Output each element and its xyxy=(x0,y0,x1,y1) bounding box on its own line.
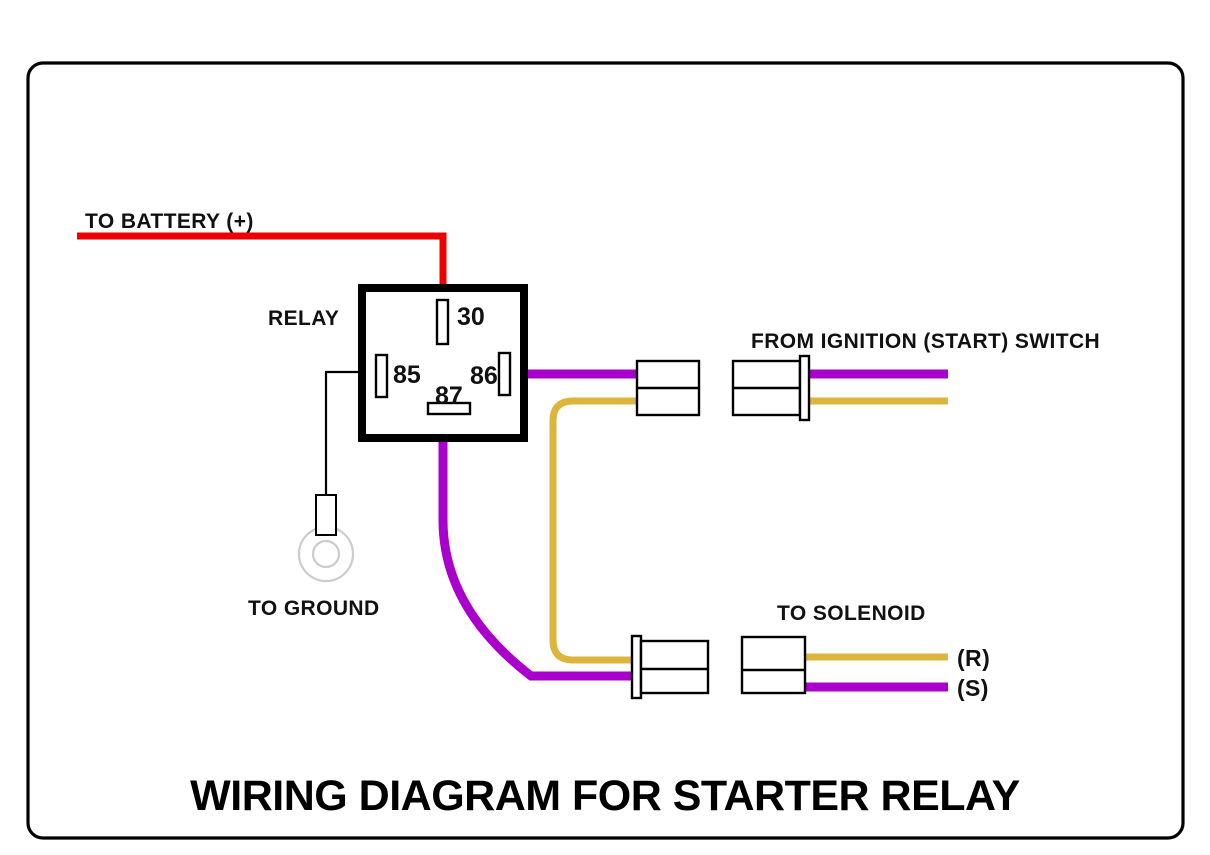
pin-label-87: 87 xyxy=(435,382,463,410)
connector-solenoid-female-tab xyxy=(632,636,641,698)
relay-terminal-30 xyxy=(437,300,448,344)
label-to-battery: TO BATTERY (+) xyxy=(85,210,254,233)
pin-label-30: 30 xyxy=(457,303,485,331)
wiring-diagram-canvas: 30 85 86 87 TO BATTERY (+) RELAY TO GROU… xyxy=(0,0,1210,855)
label-relay: RELAY xyxy=(268,307,339,330)
wire-code-r: (R) xyxy=(957,645,990,671)
wire-solenoid-purple-87 xyxy=(443,415,640,676)
label-to-solenoid: TO SOLENOID xyxy=(777,602,926,625)
wire-ground-black xyxy=(326,372,362,497)
connector-solenoid-male xyxy=(742,637,805,693)
wire-code-s: (S) xyxy=(957,675,989,701)
connector-ignition-male-tab xyxy=(800,356,809,420)
label-from-ignition-switch: FROM IGNITION (START) SWITCH xyxy=(751,330,1100,353)
ground-ring-inner xyxy=(313,541,339,567)
wiring-diagram-root: 30 85 86 87 TO BATTERY (+) RELAY TO GROU… xyxy=(0,0,1210,855)
connector-solenoid-female xyxy=(641,641,708,693)
ground-ring-shank xyxy=(316,495,336,535)
relay-terminal-85 xyxy=(376,355,387,397)
label-to-ground: TO GROUND xyxy=(248,597,380,620)
diagram-frame-border xyxy=(28,63,1183,838)
pin-label-85: 85 xyxy=(393,361,421,389)
relay-terminal-86 xyxy=(499,353,510,395)
pin-label-86: 86 xyxy=(470,362,498,390)
diagram-title: WIRING DIAGRAM FOR STARTER RELAY xyxy=(190,772,1020,820)
wire-gold-loop xyxy=(553,401,638,660)
